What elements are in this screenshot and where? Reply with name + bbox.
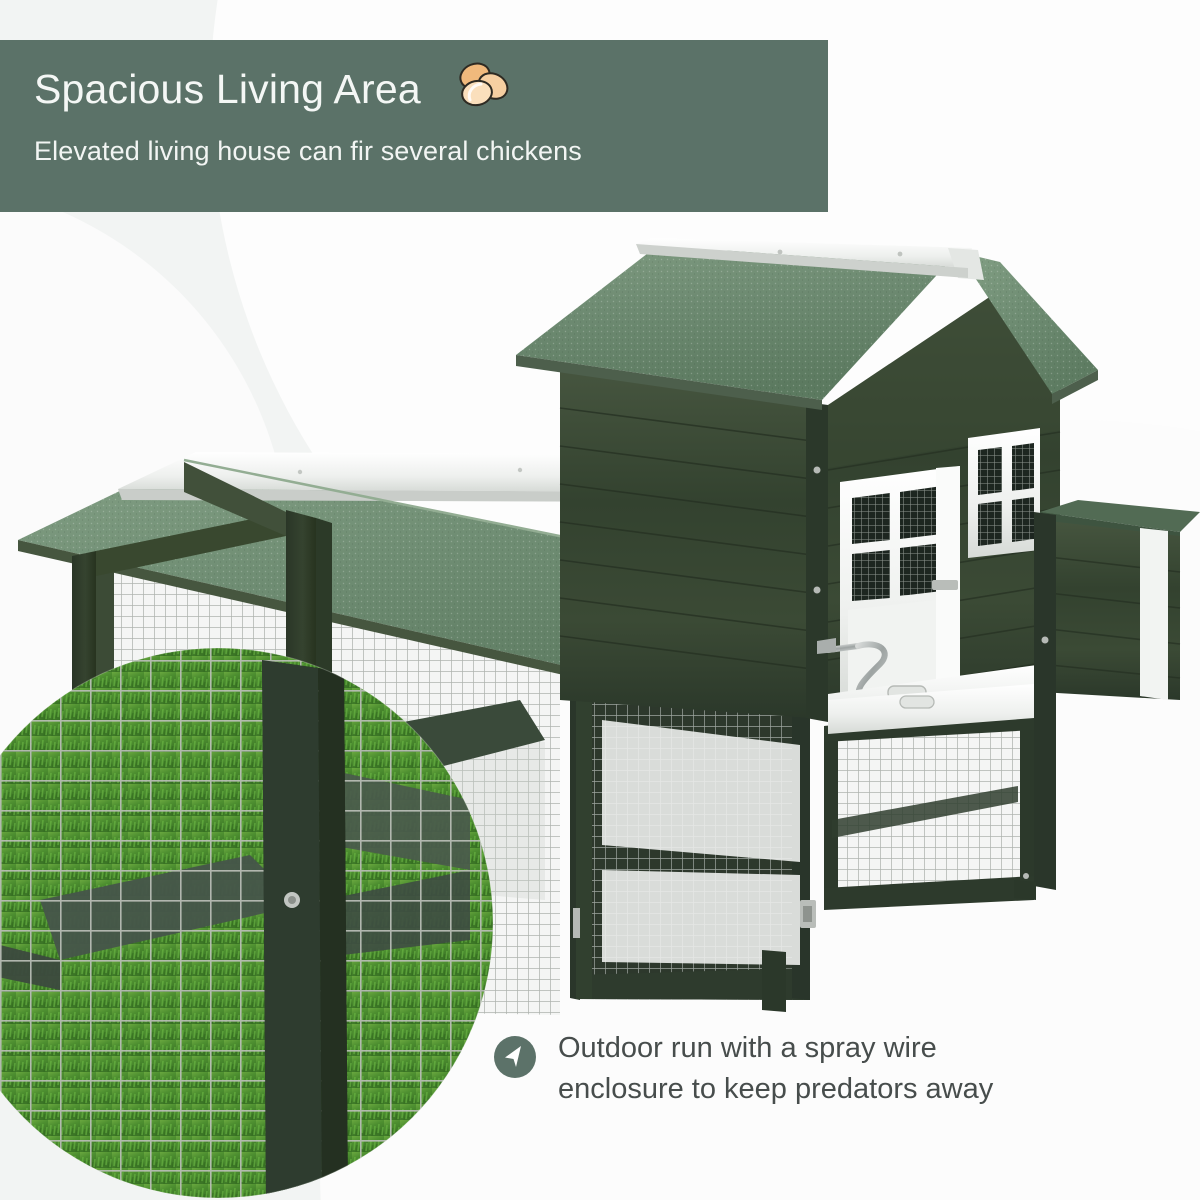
house-window [968,428,1040,558]
nest-box [1034,500,1200,890]
header-banner: Spacious Living Area Elevated living hou… [0,40,828,212]
arrow-left-cursor-icon [494,1036,536,1078]
page-title: Spacious Living Area [34,66,421,113]
outdoor-run-right [824,684,1034,910]
eggs-icon [453,60,511,110]
caption-text: Outdoor run with a spray wire enclosure … [558,1028,993,1110]
banner-subtitle: Elevated living house can fir several ch… [34,136,828,167]
house-door [840,466,960,712]
product-feature-image: Spacious Living Area Elevated living hou… [0,0,1200,1200]
feature-caption: Outdoor run with a spray wire enclosure … [494,1028,993,1110]
